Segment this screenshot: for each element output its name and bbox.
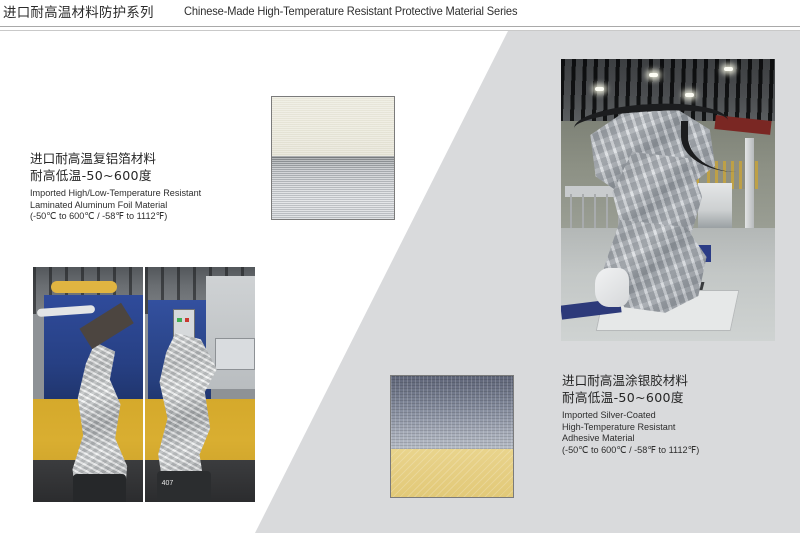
ceiling-lamp [724, 67, 733, 71]
yellow-pipe [51, 281, 118, 293]
product-2-text-block: 进口耐高温涂银胶材料 耐高低温-50~600度 Imported Silver-… [562, 372, 707, 456]
product-2-name-en-line3: Adhesive Material [562, 433, 699, 445]
product-2-name-en-line2: High-Temperature Resistant [562, 422, 699, 434]
robot-base-label: 407 [162, 480, 174, 487]
page-title-chinese: 进口耐高温材料防护系列 [3, 1, 154, 21]
white-cover-patch [595, 268, 629, 307]
product-1-spec-cn: 耐高低温-50~600度 [30, 167, 210, 184]
product-1-name-en-line1: Imported High/Low-Temperature Resistant [30, 188, 201, 200]
product-1-material-swatch [271, 96, 395, 220]
ceiling-lamp [685, 93, 694, 97]
work-bench-legs [570, 194, 621, 228]
product-2-swatch-top-face [391, 376, 513, 449]
factory-window [215, 338, 255, 371]
indicator-lamp-green [177, 318, 181, 323]
product-2-temperature-range: (-50℃ to 600℃ / -58℉ to 1112℉) [562, 445, 699, 457]
photo-split-seam [143, 267, 145, 502]
product-1-name-en-line2: Laminated Aluminum Foil Material [30, 200, 201, 212]
product-2-application-photo [561, 59, 775, 341]
robot-base-right: 407 [157, 471, 210, 502]
page-header: 进口耐高温材料防护系列 Chinese-Made High-Temperatur… [0, 0, 800, 27]
product-1-temperature-range: (-50℃ to 600℃ / -58℉ to 1112℉) [30, 211, 201, 223]
product-1-text-block: 进口耐高温复铝箔材料 耐高低温-50~600度 Imported High/Lo… [30, 150, 210, 223]
product-1-swatch-bottom-face [272, 156, 394, 219]
header-divider [0, 26, 800, 31]
product-2-name-cn: 进口耐高温涂银胶材料 [562, 372, 707, 389]
white-equipment-box [698, 183, 732, 228]
product-2-material-swatch [390, 375, 514, 498]
robot-base-left [73, 474, 126, 502]
product-1-name-cn: 进口耐高温复铝箔材料 [30, 150, 210, 167]
ceiling-lamp [595, 87, 604, 91]
product-1-application-photo: 407 [33, 267, 255, 502]
page-title-english: Chinese-Made High-Temperature Resistant … [184, 4, 517, 18]
product-2-name-en-line1: Imported Silver-Coated [562, 410, 699, 422]
indicator-lamp-red [185, 318, 189, 323]
product-1-swatch-top-face [272, 97, 394, 156]
product-2-spec-cn: 耐高低温-50~600度 [562, 389, 707, 406]
ceiling-lamp [649, 73, 658, 77]
product-2-swatch-bottom-face [391, 449, 513, 497]
poster-page: 进口耐高温材料防护系列 Chinese-Made High-Temperatur… [0, 0, 800, 533]
